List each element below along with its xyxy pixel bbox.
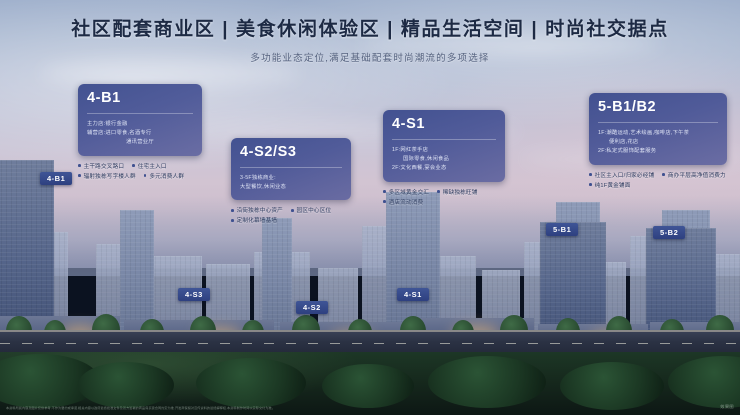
bullet-label: 主干路交叉路口 (84, 162, 125, 170)
legal-disclaimer: 本资料所载内容及图片仅供参考,不作为要约或承诺,相关内容以政府最终批准文件及双方… (6, 405, 275, 410)
card-divider (598, 122, 718, 123)
bullet-label: 定制化幕墙基墙 (237, 216, 278, 224)
card-code: 4-B1 (87, 91, 193, 107)
card-panel: 4-S1 1F:网红茶手店 国际零食,休闲食品 2F:文化西餐,宴会业态 (383, 110, 505, 182)
bullet-item: 主干路交叉路口 (78, 162, 124, 170)
bullet-dot-icon (231, 219, 234, 222)
bullet-label: 多元消费人群 (149, 172, 184, 180)
bullet-item: 纯1F黄金铺面 (589, 181, 631, 189)
card-divider (240, 167, 342, 168)
bullet-label: 社区主入口/归家必经铺 (595, 171, 655, 179)
bullet-dot-icon (132, 164, 135, 167)
bullet-dot-icon (589, 173, 592, 176)
bullet-label: 多区域黄金交汇 (389, 188, 430, 196)
bullet-item: 辐射独栋写字楼人群 (78, 172, 136, 180)
bullet-dot-icon (383, 190, 386, 193)
bullet-item: 沿街独栋中心资产 (231, 206, 283, 214)
card-bullet-list: 沿街独栋中心资产 园区中心区位 定制化幕墙基墙 (231, 206, 351, 224)
bullet-item: 定制化幕墙基墙 (231, 216, 277, 224)
building-tag-5-b2[interactable]: 5-B2 (653, 226, 685, 239)
info-card-5-b1-b2[interactable]: 5-B1/B2 1F:潮酷运动,艺术绘画,咖啡店,下午茶 便利店,花店 2F:私… (589, 93, 727, 189)
card-detail-line: 3-5F独栋商业: (240, 174, 342, 183)
card-detail-line: 大型餐饮,休闲业态 (240, 183, 342, 192)
building-tag-5-b1[interactable]: 5-B1 (546, 223, 578, 236)
header: 社区配套商业区 | 美食休闲体验区 | 精品生活空间 | 时尚社交据点 多功能业… (0, 14, 740, 64)
card-detail-line: 国际零食,休闲食品 (392, 155, 496, 164)
card-bullet-list: 社区主入口/归家必经铺 商办平层高净值消费力 纯1F黄金铺面 (589, 171, 727, 189)
bullet-label: 沿街独栋中心资产 (237, 206, 283, 214)
info-card-4-s1[interactable]: 4-S1 1F:网红茶手店 国际零食,休闲食品 2F:文化西餐,宴会业态 多区域… (383, 110, 505, 206)
card-detail-line: 1F:网红茶手店 (392, 146, 496, 155)
page-title: 社区配套商业区 | 美食休闲体验区 | 精品生活空间 | 时尚社交据点 (0, 14, 740, 41)
bullet-dot-icon (78, 174, 81, 177)
card-panel: 4-S2/S3 3-5F独栋商业: 大型餐饮,休闲业态 (231, 138, 351, 200)
bullet-dot-icon (589, 183, 592, 186)
card-panel: 5-B1/B2 1F:潮酷运动,艺术绘画,咖啡店,下午茶 便利店,花店 2F:私… (589, 93, 727, 165)
card-bullet-list: 主干路交叉路口 住宅主入口 辐射独栋写字楼人群 多元消费人群 (78, 162, 202, 180)
bullet-label: 辐射独栋写字楼人群 (84, 172, 136, 180)
footer: 本资料所载内容及图片仅供参考,不作为要约或承诺,相关内容以政府最终批准文件及双方… (0, 399, 740, 415)
card-divider (87, 113, 193, 114)
card-panel: 4-B1 主力店:银行金融 辅营店:进口零食,名酒专行 通讯营业厅 (78, 84, 202, 156)
card-detail-line: 2F:私定式服饰配套服务 (598, 147, 718, 156)
card-bullet-list: 多区域黄金交汇 稀缺独栋旺铺 酒店流动消费 (383, 188, 505, 206)
bullet-dot-icon (383, 200, 386, 203)
bullet-item: 园区中心区位 (291, 206, 331, 214)
lane-marking (0, 343, 740, 344)
card-detail-line: 辅营店:进口零食,名酒专行 (87, 129, 193, 138)
building-tag-4-s2[interactable]: 4-S2 (296, 301, 328, 314)
rendering-notice: 效果图 (714, 404, 734, 410)
bullet-label: 稀缺独栋旺铺 (443, 188, 478, 196)
card-detail-line: 2F:文化西餐,宴会业态 (392, 164, 496, 173)
bullet-label: 商办平层高净值消费力 (668, 171, 726, 179)
page-subtitle: 多功能业态定位,满足基础配套时尚潮流的多项选择 (0, 50, 740, 64)
bullet-label: 酒店流动消费 (389, 198, 424, 206)
bullet-item: 商办平层高净值消费力 (662, 171, 726, 179)
card-detail-line: 便利店,花店 (598, 138, 718, 147)
card-detail-line: 通讯营业厅 (87, 138, 193, 147)
bullet-item: 社区主入口/归家必经铺 (589, 171, 654, 179)
bullet-label: 纯1F黄金铺面 (595, 181, 631, 189)
card-detail-line: 1F:潮酷运动,艺术绘画,咖啡店,下午茶 (598, 129, 718, 138)
card-divider (392, 139, 496, 140)
bullet-item: 酒店流动消费 (383, 198, 423, 206)
info-card-4-s2-s3[interactable]: 4-S2/S3 3-5F独栋商业: 大型餐饮,休闲业态 沿街独栋中心资产 园区中… (231, 138, 351, 224)
bullet-dot-icon (144, 174, 147, 177)
road-curb (0, 330, 740, 332)
card-code: 4-S2/S3 (240, 145, 342, 161)
bullet-dot-icon (662, 173, 665, 176)
bullet-label: 园区中心区位 (297, 206, 332, 214)
bullet-dot-icon (437, 190, 440, 193)
card-code: 4-S1 (392, 117, 496, 133)
bullet-item: 多区域黄金交汇 (383, 188, 429, 196)
building-tag-4-s1[interactable]: 4-S1 (397, 288, 429, 301)
bullet-item: 稀缺独栋旺铺 (437, 188, 477, 196)
info-card-4-b1[interactable]: 4-B1 主力店:银行金融 辅营店:进口零食,名酒专行 通讯营业厅 主干路交叉路… (78, 84, 202, 180)
building-tag-4-s3[interactable]: 4-S3 (178, 288, 210, 301)
bullet-dot-icon (78, 164, 81, 167)
card-code: 5-B1/B2 (598, 100, 718, 116)
card-detail-line: 主力店:银行金融 (87, 120, 193, 129)
bullet-dot-icon (291, 209, 294, 212)
bullet-item: 多元消费人群 (144, 172, 184, 180)
bullet-item: 住宅主入口 (132, 162, 167, 170)
bullet-label: 住宅主入口 (138, 162, 167, 170)
building-tag-4-b1[interactable]: 4-B1 (40, 172, 72, 185)
bullet-dot-icon (231, 209, 234, 212)
